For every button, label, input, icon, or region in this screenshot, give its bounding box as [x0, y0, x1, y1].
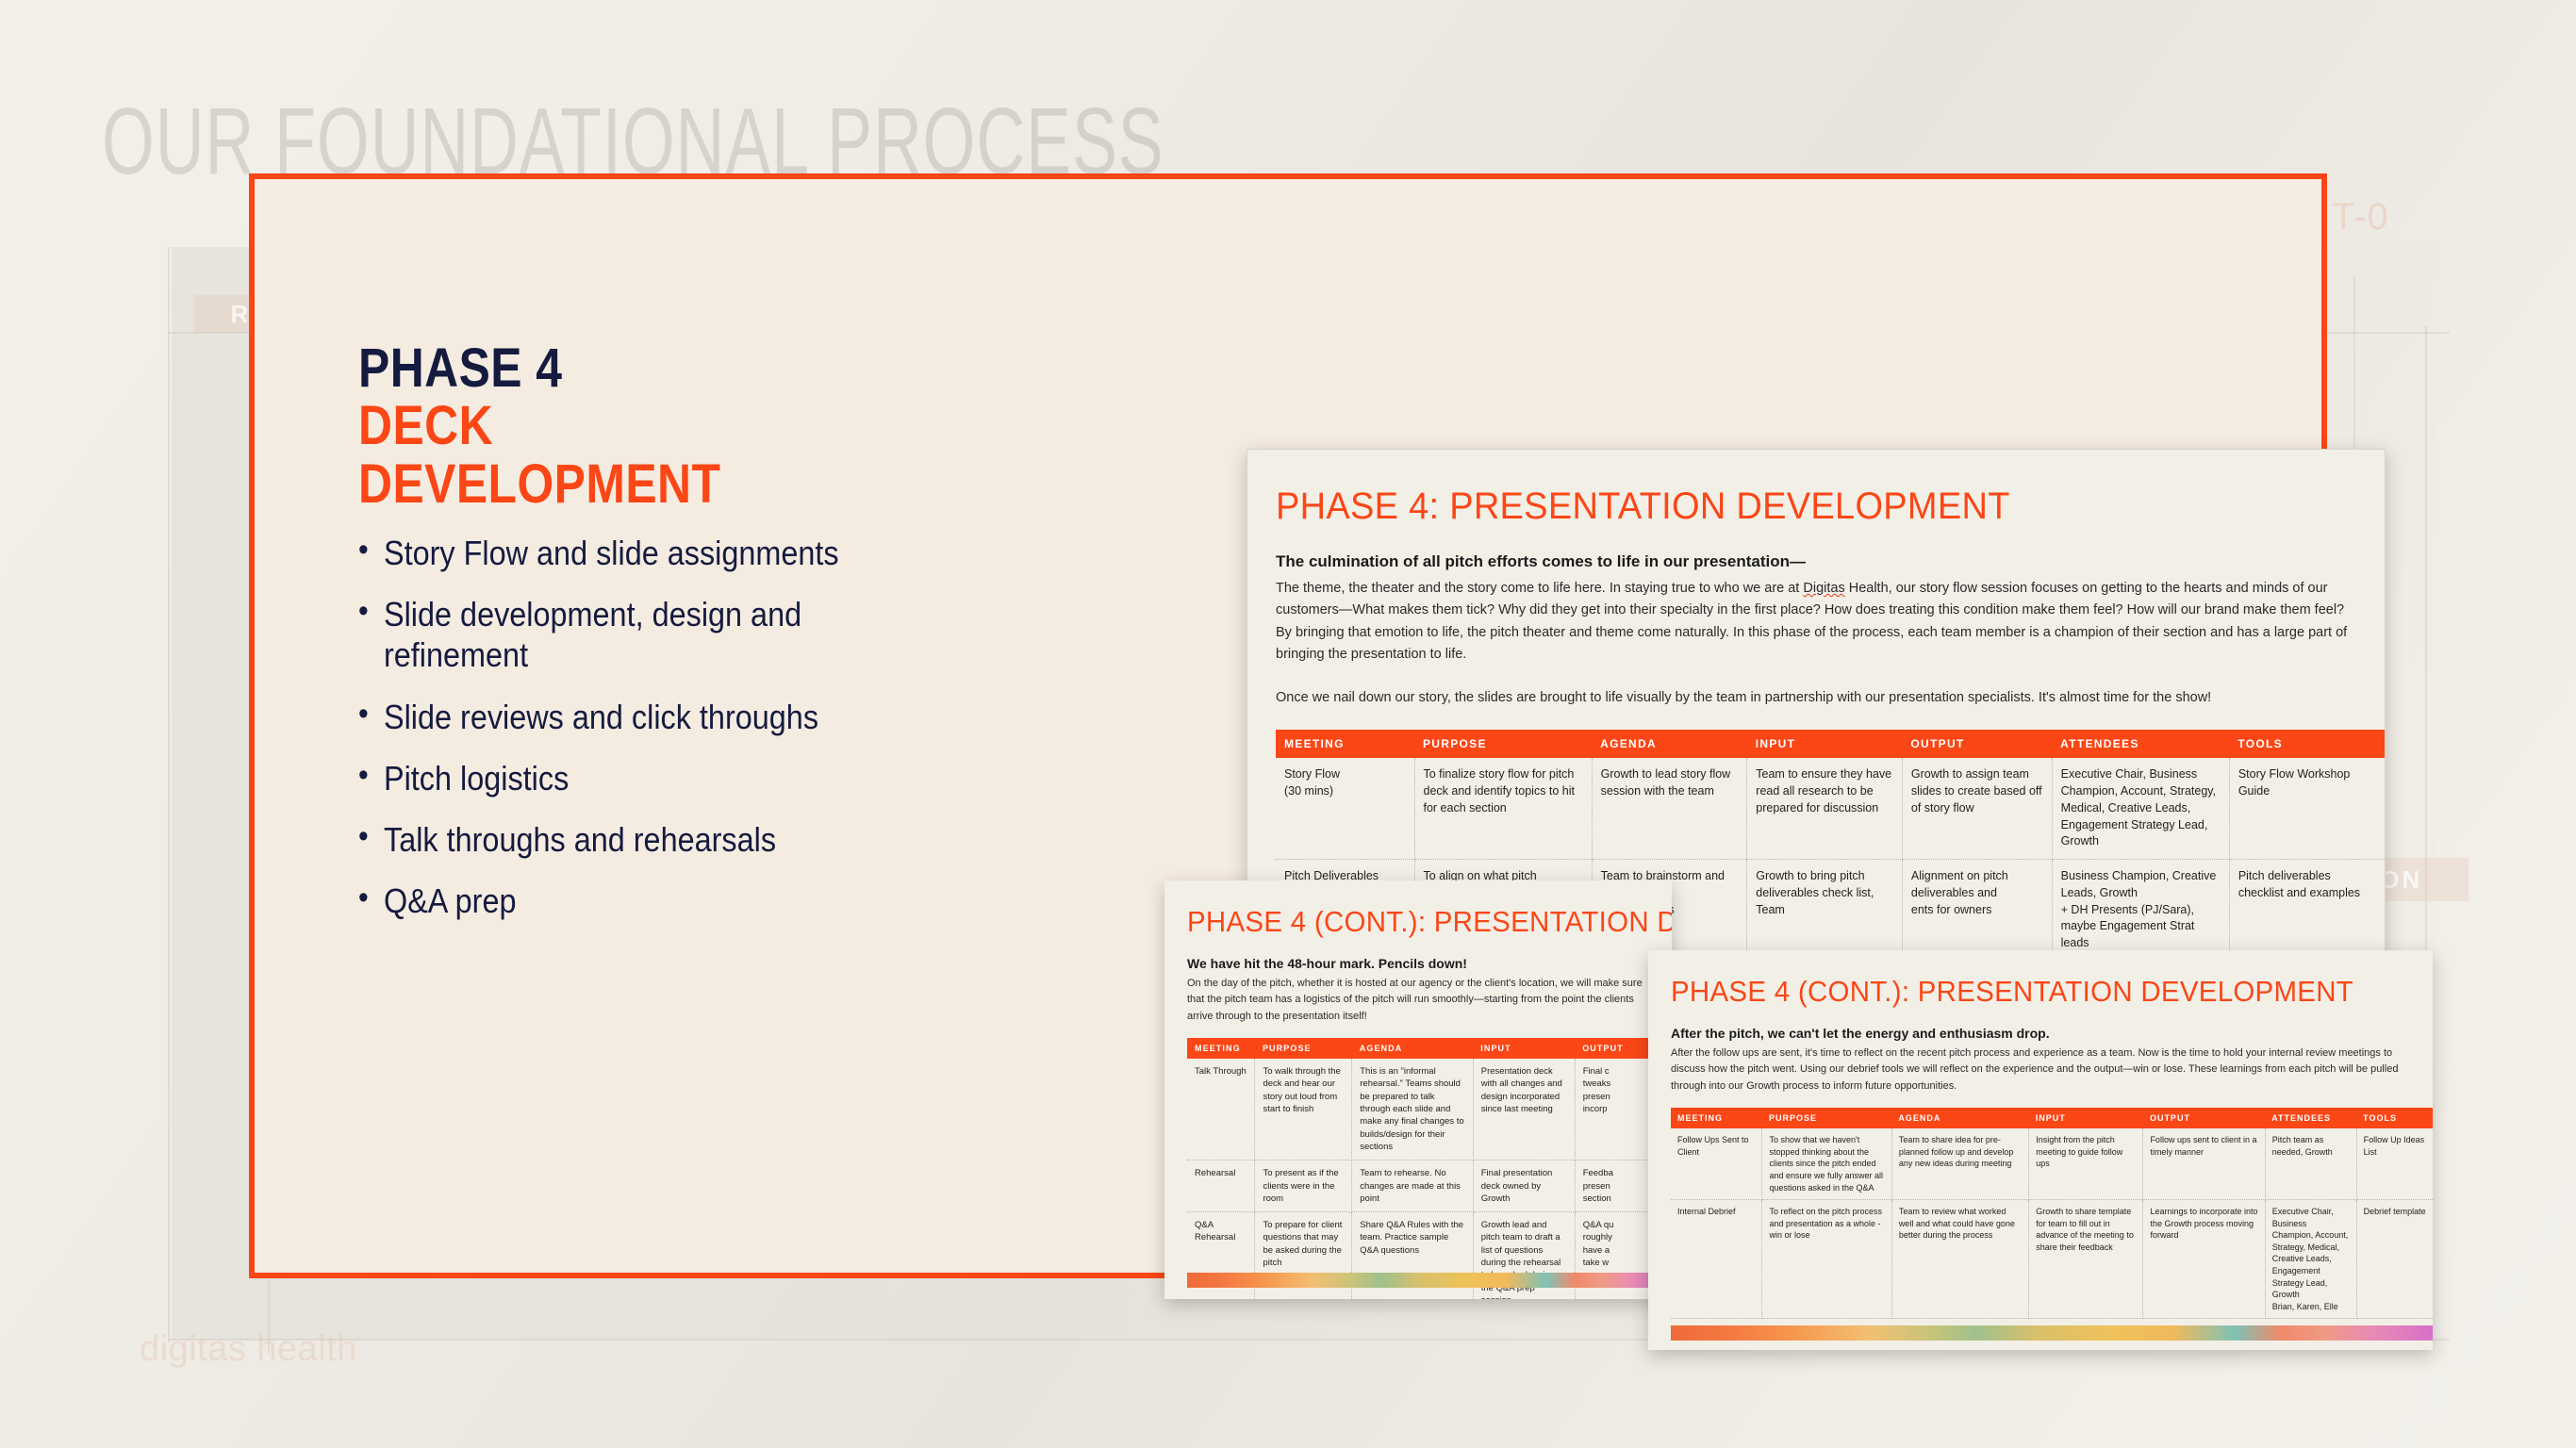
- table-column-header: ATTENDEES: [2265, 1108, 2356, 1128]
- table-header-row: MEETINGPURPOSEAGENDAINPUTOUTPUT: [1187, 1038, 1672, 1059]
- main-slide-frame: PHASE 4 DECK DEVELOPMENT Story Flow and …: [249, 173, 2327, 1278]
- card3-lede: After the pitch, we can't let the energy…: [1671, 1026, 2404, 1041]
- table-cell: To present as if the clients were in the…: [1255, 1160, 1352, 1212]
- table-column-header: ATTENDEES: [2052, 730, 2229, 758]
- table-row: Internal DebriefTo reflect on the pitch …: [1671, 1200, 2433, 1319]
- table-cell: Internal Debrief: [1671, 1200, 1762, 1319]
- table-column-header: INPUT: [2029, 1108, 2143, 1128]
- table-header-row: MEETINGPURPOSEAGENDAINPUTOUTPUTATTENDEES…: [1671, 1108, 2433, 1128]
- phase-title-line-1: PHASE 4: [358, 339, 813, 397]
- table-column-header: INPUT: [1473, 1038, 1575, 1059]
- phase-bullet-list: Story Flow and slide assignments Slide d…: [358, 533, 924, 942]
- table-cell: To show that we haven't stopped thinking…: [1762, 1128, 1891, 1199]
- table-cell: Growth to bring pitch deliverables check…: [1747, 860, 1903, 962]
- card2-heading: PHASE 4 (CONT.): PRESENTATION DEVELOPMEN…: [1187, 905, 1621, 939]
- table-column-header: PURPOSE: [1414, 730, 1592, 758]
- table-cell: Growth to assign team slides to create b…: [1902, 758, 2052, 859]
- card2-table: MEETINGPURPOSEAGENDAINPUTOUTPUT Talk Thr…: [1187, 1038, 1672, 1299]
- card2-gradient-bar: [1187, 1273, 1672, 1288]
- table-column-header: MEETING: [1276, 730, 1414, 758]
- table-cell: To reflect on the pitch process and pres…: [1762, 1200, 1891, 1319]
- table-cell: Learnings to incorporate into the Growth…: [2143, 1200, 2265, 1319]
- card1-body-part1: The theme, the theater and the story com…: [1276, 581, 1803, 596]
- table-cell: Business Champion, Creative Leads, Growt…: [2052, 860, 2229, 962]
- list-item: Talk throughs and rehearsals: [358, 819, 867, 860]
- card3-heading: PHASE 4 (CONT.): PRESENTATION DEVELOPMEN…: [1671, 975, 2368, 1009]
- table-cell: Executive Chair, Business Champion, Acco…: [2052, 758, 2229, 859]
- table-column-header: AGENDA: [1352, 1038, 1474, 1059]
- document-card-phase4-cont-1[interactable]: PHASE 4 (CONT.): PRESENTATION DEVELOPMEN…: [1164, 880, 1672, 1299]
- table-column-header: PURPOSE: [1762, 1108, 1891, 1128]
- card2-table-body: Talk ThroughTo walk through the deck and…: [1187, 1059, 1672, 1299]
- table-cell: Pitch deliverables checklist and example…: [2229, 860, 2385, 962]
- table-column-header: MEETING: [1671, 1108, 1762, 1128]
- card2-lede: We have hit the 48-hour mark. Pencils do…: [1187, 956, 1643, 971]
- table-cell: Talk Through: [1187, 1059, 1255, 1160]
- table-column-header: OUTPUT: [2143, 1108, 2265, 1128]
- table-column-header: PURPOSE: [1255, 1038, 1352, 1059]
- list-item: Pitch logistics: [358, 758, 867, 798]
- list-item: Q&A prep: [358, 880, 867, 921]
- table-cell: Follow Up Ideas List: [2356, 1128, 2433, 1199]
- background-vertical-line: [168, 247, 170, 1342]
- table-cell: Alignment on pitch deliverables andents …: [1902, 860, 2052, 962]
- background-label-t0: T-0: [2332, 196, 2389, 239]
- table-row: Story Flow(30 mins)To finalize story flo…: [1276, 758, 2385, 859]
- table-cell: Final presentation deck owned by Growth: [1473, 1160, 1575, 1212]
- table-cell: Executive Chair, Business Champion, Acco…: [2265, 1200, 2356, 1319]
- table-header-row: MEETINGPURPOSEAGENDAINPUTOUTPUTATTENDEES…: [1276, 730, 2385, 758]
- table-cell: Team to share idea for pre-planned follo…: [1891, 1128, 2028, 1199]
- card1-heading: PHASE 4: PRESENTATION DEVELOPMENT: [1276, 485, 2303, 528]
- document-card-phase4-cont-2[interactable]: PHASE 4 (CONT.): PRESENTATION DEVELOPMEN…: [1648, 950, 2433, 1350]
- card3-gradient-bar: [1671, 1325, 2433, 1341]
- table-cell: This is an "informal rehearsal." Teams s…: [1352, 1059, 1474, 1160]
- table-cell: Story Flow Workshop Guide: [2229, 758, 2385, 859]
- table-cell: Debrief template: [2356, 1200, 2433, 1319]
- table-cell: Pitch team as needed, Growth: [2265, 1128, 2356, 1199]
- phase-title-line-3: DEVELOPMENT: [358, 455, 813, 513]
- table-cell: To walk through the deck and hear our st…: [1255, 1059, 1352, 1160]
- table-cell: Rehearsal: [1187, 1160, 1255, 1212]
- table-cell: Team to rehearse. No changes are made at…: [1352, 1160, 1474, 1212]
- table-column-header: AGENDA: [1891, 1108, 2028, 1128]
- table-row: Talk ThroughTo walk through the deck and…: [1187, 1059, 1672, 1160]
- card1-lede: The culmination of all pitch efforts com…: [1276, 552, 2356, 571]
- card3-table: MEETINGPURPOSEAGENDAINPUTOUTPUTATTENDEES…: [1671, 1108, 2433, 1319]
- table-column-header: INPUT: [1747, 730, 1903, 758]
- card3-body: After the follow ups are sent, it's time…: [1671, 1045, 2404, 1094]
- card1-body-paragraph-1: The theme, the theater and the story com…: [1276, 578, 2356, 666]
- list-item: Slide development, design and refinement: [358, 594, 867, 675]
- list-item: Slide reviews and click throughs: [358, 697, 867, 737]
- card2-body: On the day of the pitch, whether it is h…: [1187, 976, 1643, 1025]
- table-cell: Story Flow(30 mins): [1276, 758, 1414, 859]
- brand-watermark: digitas health: [140, 1329, 357, 1370]
- table-column-header: AGENDA: [1592, 730, 1747, 758]
- table-column-header: TOOLS: [2229, 730, 2385, 758]
- table-column-header: TOOLS: [2356, 1108, 2433, 1128]
- phase-title-block: PHASE 4 DECK DEVELOPMENT: [358, 339, 886, 513]
- table-cell: Follow ups sent to client in a timely ma…: [2143, 1128, 2265, 1199]
- table-cell: Growth to lead story flow session with t…: [1592, 758, 1747, 859]
- card1-body-underlined-term: Digitas: [1803, 581, 1844, 596]
- table-row: RehearsalTo present as if the clients we…: [1187, 1160, 1672, 1212]
- table-cell: Insight from the pitch meeting to guide …: [2029, 1128, 2143, 1199]
- table-cell: Presentation deck with all changes and d…: [1473, 1059, 1575, 1160]
- table-cell: Growth to share template for team to fil…: [2029, 1200, 2143, 1319]
- table-cell: Team to ensure they have read all resear…: [1747, 758, 1903, 859]
- phase-title-line-2: DECK: [358, 397, 813, 454]
- table-column-header: OUTPUT: [1902, 730, 2052, 758]
- card1-body-paragraph-2: Once we nail down our story, the slides …: [1276, 687, 2356, 709]
- list-item: Story Flow and slide assignments: [358, 533, 867, 573]
- table-cell: Team to review what worked well and what…: [1891, 1200, 2028, 1319]
- table-column-header: MEETING: [1187, 1038, 1255, 1059]
- table-row: Follow Ups Sent to ClientTo show that we…: [1671, 1128, 2433, 1199]
- table-cell: To finalize story flow for pitch deck an…: [1414, 758, 1592, 859]
- card3-table-body: Follow Ups Sent to ClientTo show that we…: [1671, 1128, 2433, 1319]
- table-cell: Follow Ups Sent to Client: [1671, 1128, 1762, 1199]
